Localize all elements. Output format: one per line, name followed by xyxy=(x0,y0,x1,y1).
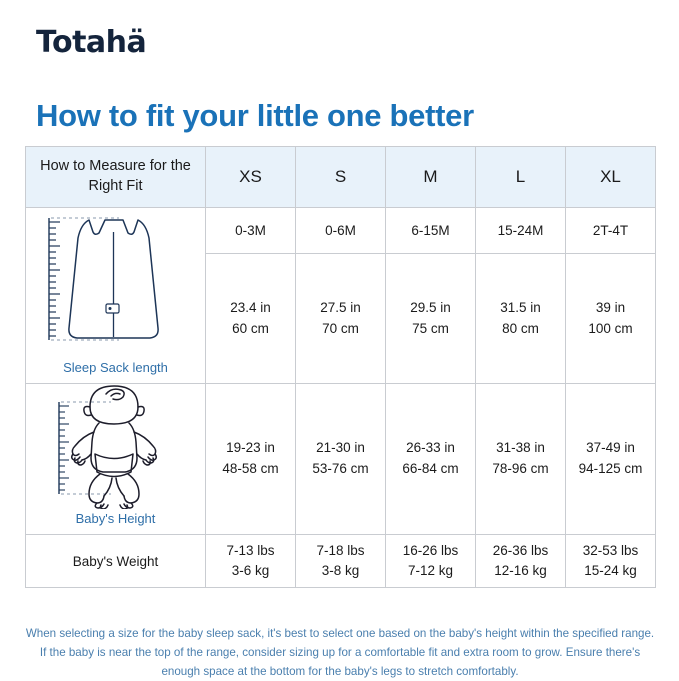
sleep-sack-length-l: 31.5 in 80 cm xyxy=(476,254,566,384)
age-value-xl: 2T-4T xyxy=(566,208,656,254)
sleep-sack-length-l-in: 31.5 in xyxy=(476,298,565,319)
sleep-sack-length-xs-cm: 60 cm xyxy=(206,319,295,340)
age-value-xs: 0-3M xyxy=(206,208,296,254)
sleep-sack-length-m-in: 29.5 in xyxy=(386,298,475,319)
sleep-sack-length-l-cm: 80 cm xyxy=(476,319,565,340)
column-header-xs: XS xyxy=(206,147,296,208)
column-header-measure: How to Measure for the Right Fit xyxy=(26,147,206,208)
baby-weight-xl: 32-53 lbs 15-24 kg xyxy=(566,535,656,588)
baby-height-l: 31-38 in 78-96 cm xyxy=(476,384,566,535)
size-chart-container: How to Measure for the Right Fit XS S M … xyxy=(25,146,655,588)
baby-height-illustration-cell: Baby's Height xyxy=(26,384,206,535)
sleep-sack-length-m-cm: 75 cm xyxy=(386,319,475,340)
age-value-l: 15-24M xyxy=(476,208,566,254)
baby-weight-xl-lbs: 32-53 lbs xyxy=(566,541,655,561)
sleep-sack-length-s-cm: 70 cm xyxy=(296,319,385,340)
column-header-m: M xyxy=(386,147,476,208)
brand-logo: Totahä xyxy=(36,28,146,58)
baby-height-m-in: 26-33 in xyxy=(386,438,475,459)
sleep-sack-length-xl-cm: 100 cm xyxy=(566,319,655,340)
sleep-sack-length-xl-in: 39 in xyxy=(566,298,655,319)
table-row-baby-weight: Baby's Weight 7-13 lbs 3-6 kg 7-18 lbs 3… xyxy=(26,535,656,588)
baby-height-s-in: 21-30 in xyxy=(296,438,385,459)
baby-height-s: 21-30 in 53-76 cm xyxy=(296,384,386,535)
baby-weight-m-kg: 7-12 kg xyxy=(386,561,475,581)
baby-weight-xs: 7-13 lbs 3-6 kg xyxy=(206,535,296,588)
baby-height-xl-cm: 94-125 cm xyxy=(566,459,655,480)
sleep-sack-illustration-cell: Sleep Sack length xyxy=(26,208,206,384)
table-row-age: Sleep Sack length 0-3M 0-6M 6-15M 15-24M… xyxy=(26,208,656,254)
column-header-s: S xyxy=(296,147,386,208)
sizing-footnote: When selecting a size for the baby sleep… xyxy=(22,624,658,681)
baby-height-xl: 37-49 in 94-125 cm xyxy=(566,384,656,535)
baby-weight-m: 16-26 lbs 7-12 kg xyxy=(386,535,476,588)
sleep-sack-illustration xyxy=(27,208,205,358)
baby-height-m: 26-33 in 66-84 cm xyxy=(386,384,476,535)
baby-weight-xs-kg: 3-6 kg xyxy=(206,561,295,581)
sleep-sack-length-m: 29.5 in 75 cm xyxy=(386,254,476,384)
sleep-sack-length-s-in: 27.5 in xyxy=(296,298,385,319)
baby-height-xs-cm: 48-58 cm xyxy=(206,459,295,480)
baby-weight-l: 26-36 lbs 12-16 kg xyxy=(476,535,566,588)
baby-height-xs-in: 19-23 in xyxy=(206,438,295,459)
baby-weight-l-lbs: 26-36 lbs xyxy=(476,541,565,561)
baby-height-l-in: 31-38 in xyxy=(476,438,565,459)
baby-height-l-cm: 78-96 cm xyxy=(476,459,565,480)
sleep-sack-length-label: Sleep Sack length xyxy=(63,360,168,383)
baby-weight-s-lbs: 7-18 lbs xyxy=(296,541,385,561)
baby-weight-xs-lbs: 7-13 lbs xyxy=(206,541,295,561)
age-value-s: 0-6M xyxy=(296,208,386,254)
table-row-baby-height: Baby's Height 19-23 in 48-58 cm 21-30 in… xyxy=(26,384,656,535)
baby-height-xl-in: 37-49 in xyxy=(566,438,655,459)
baby-weight-s: 7-18 lbs 3-8 kg xyxy=(296,535,386,588)
baby-weight-xl-kg: 15-24 kg xyxy=(566,561,655,581)
sleep-sack-length-xl: 39 in 100 cm xyxy=(566,254,656,384)
sleep-sack-length-xs-in: 23.4 in xyxy=(206,298,295,319)
baby-height-m-cm: 66-84 cm xyxy=(386,459,475,480)
baby-height-xs: 19-23 in 48-58 cm xyxy=(206,384,296,535)
column-header-xl: XL xyxy=(566,147,656,208)
baby-height-s-cm: 53-76 cm xyxy=(296,459,385,480)
size-chart-table: How to Measure for the Right Fit XS S M … xyxy=(25,146,656,588)
table-header-row: How to Measure for the Right Fit XS S M … xyxy=(26,147,656,208)
sleep-sack-length-xs: 23.4 in 60 cm xyxy=(206,254,296,384)
baby-weight-s-kg: 3-8 kg xyxy=(296,561,385,581)
age-value-m: 6-15M xyxy=(386,208,476,254)
baby-height-label: Baby's Height xyxy=(76,511,156,534)
baby-illustration xyxy=(27,384,205,509)
page-title: How to fit your little one better xyxy=(36,99,474,133)
baby-weight-m-lbs: 16-26 lbs xyxy=(386,541,475,561)
baby-weight-label: Baby's Weight xyxy=(26,535,206,588)
sleep-sack-length-s: 27.5 in 70 cm xyxy=(296,254,386,384)
column-header-l: L xyxy=(476,147,566,208)
baby-weight-l-kg: 12-16 kg xyxy=(476,561,565,581)
